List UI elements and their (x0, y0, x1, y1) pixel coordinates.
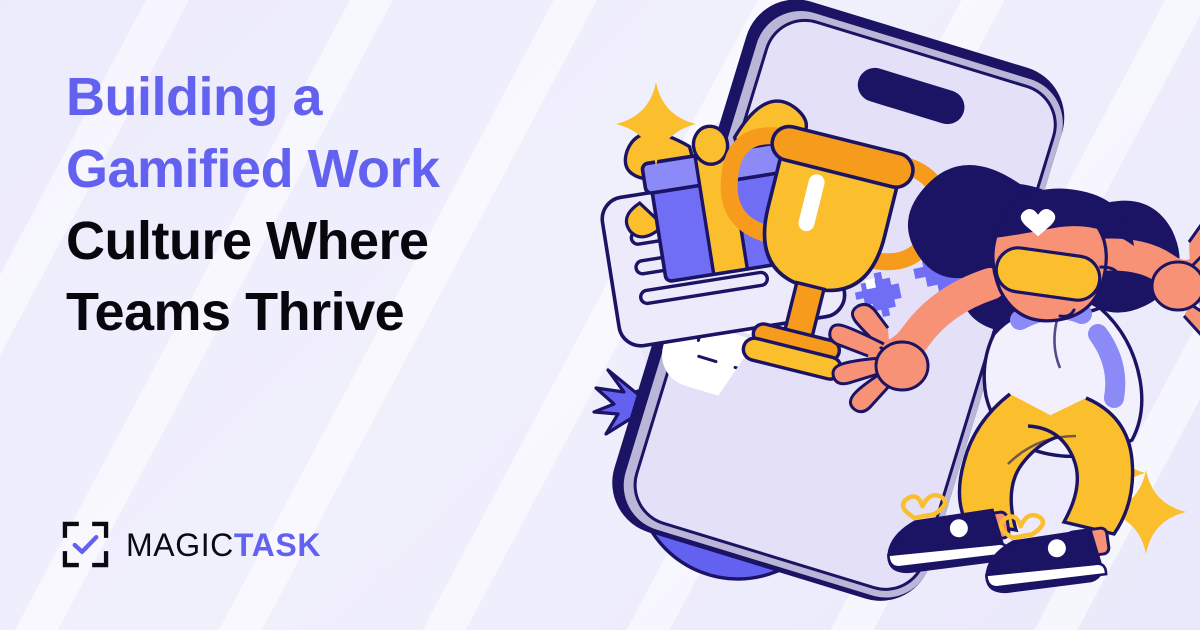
headline-line-1: Building a (66, 62, 626, 134)
brand-word-task: TASK (234, 529, 321, 561)
gamification-hero-illustration: % (590, 0, 1200, 630)
brand-logo[interactable]: MAGICTASK (62, 521, 321, 568)
checkmark-in-corner-brackets-icon (62, 521, 109, 568)
page-title: Building a Gamified Work Culture Where T… (66, 62, 626, 349)
brand-word-magic: MAGIC (126, 529, 234, 561)
brand-wordmark: MAGICTASK (126, 529, 321, 561)
headline-line-4: Teams Thrive (66, 277, 626, 349)
headline-line-2: Gamified Work (66, 134, 626, 206)
social-share-card: Building a Gamified Work Culture Where T… (0, 0, 1200, 630)
headline-line-3: Culture Where (66, 206, 626, 278)
headline-block: Building a Gamified Work Culture Where T… (66, 62, 626, 349)
